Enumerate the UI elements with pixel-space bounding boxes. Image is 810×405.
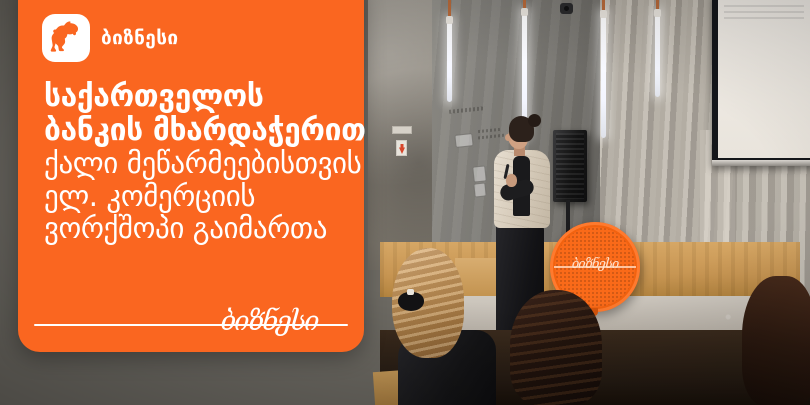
headline-line-3: ქალი მეწარმეებისთვის	[44, 149, 346, 179]
brand-signature: ბიზნესი	[194, 298, 344, 346]
headline-line-4: ელ. კომერციის	[44, 182, 346, 212]
brand-logo[interactable]: ბიზნესი	[42, 14, 179, 62]
brand-logo-word: ბიზნესი	[101, 27, 179, 49]
headline-line-1: საქართველოს	[44, 82, 346, 113]
orange-content-panel: ბიზნესი საქართველოს ბანკის მხარდაჭერით ქ…	[18, 0, 364, 352]
headline: საქართველოს ბანკის მხარდაჭერით ქალი მეწა…	[44, 82, 346, 247]
promo-banner: ბიზნესი	[0, 0, 810, 405]
lion-mark-icon	[42, 14, 90, 62]
headline-line-5: ვორქშოპი გაიმართა	[44, 214, 346, 244]
headline-line-2: ბანკის მხარდაჭერით	[44, 116, 346, 147]
